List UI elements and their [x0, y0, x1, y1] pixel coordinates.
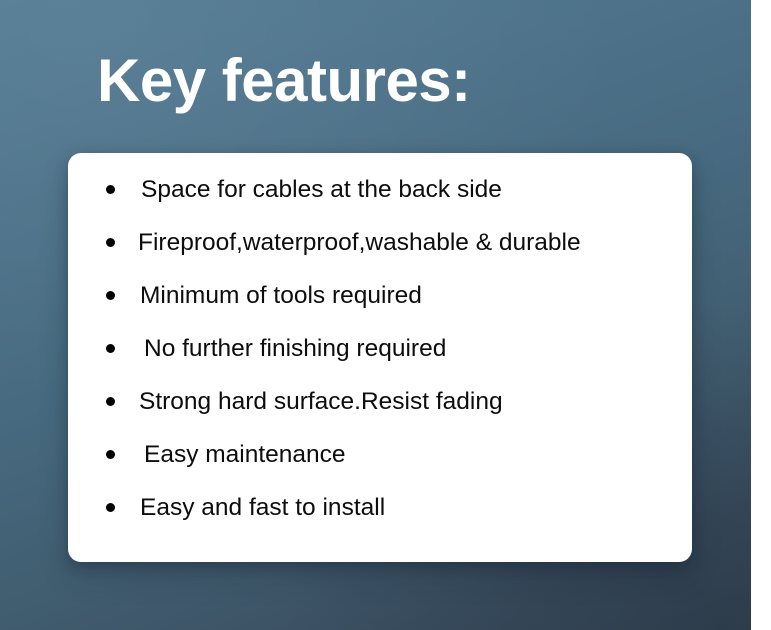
- list-item: Strong hard surface.Resist fading: [68, 386, 692, 418]
- feature-label: Space for cables at the back side: [141, 174, 502, 206]
- bullet-dot-icon: [106, 344, 115, 353]
- bullet-dot-icon: [106, 238, 115, 247]
- list-item: No further finishing required: [68, 333, 692, 365]
- feature-label: Easy and fast to install: [140, 492, 385, 524]
- list-item: Easy and fast to install: [68, 492, 692, 524]
- bullet-dot-icon: [106, 185, 115, 194]
- bullet-dot-icon: [106, 291, 115, 300]
- bullet-dot-icon: [106, 450, 115, 459]
- feature-label: Fireproof,waterproof,washable & durable: [138, 227, 581, 259]
- key-features-card: Space for cables at the back sideFirepro…: [68, 153, 692, 562]
- bullet-dot-icon: [106, 503, 115, 512]
- bullet-dot-icon: [106, 397, 115, 406]
- slide-canvas: Key features: Space for cables at the ba…: [0, 0, 771, 630]
- list-item: Easy maintenance: [68, 439, 692, 471]
- list-item: Minimum of tools required: [68, 280, 692, 312]
- feature-label: Strong hard surface.Resist fading: [139, 386, 503, 418]
- list-item: Fireproof,waterproof,washable & durable: [68, 227, 692, 259]
- feature-label: Minimum of tools required: [140, 280, 422, 312]
- list-item: Space for cables at the back side: [68, 174, 692, 206]
- feature-label: No further finishing required: [144, 333, 446, 365]
- page-title: Key features:: [97, 49, 471, 112]
- feature-label: Easy maintenance: [144, 439, 346, 471]
